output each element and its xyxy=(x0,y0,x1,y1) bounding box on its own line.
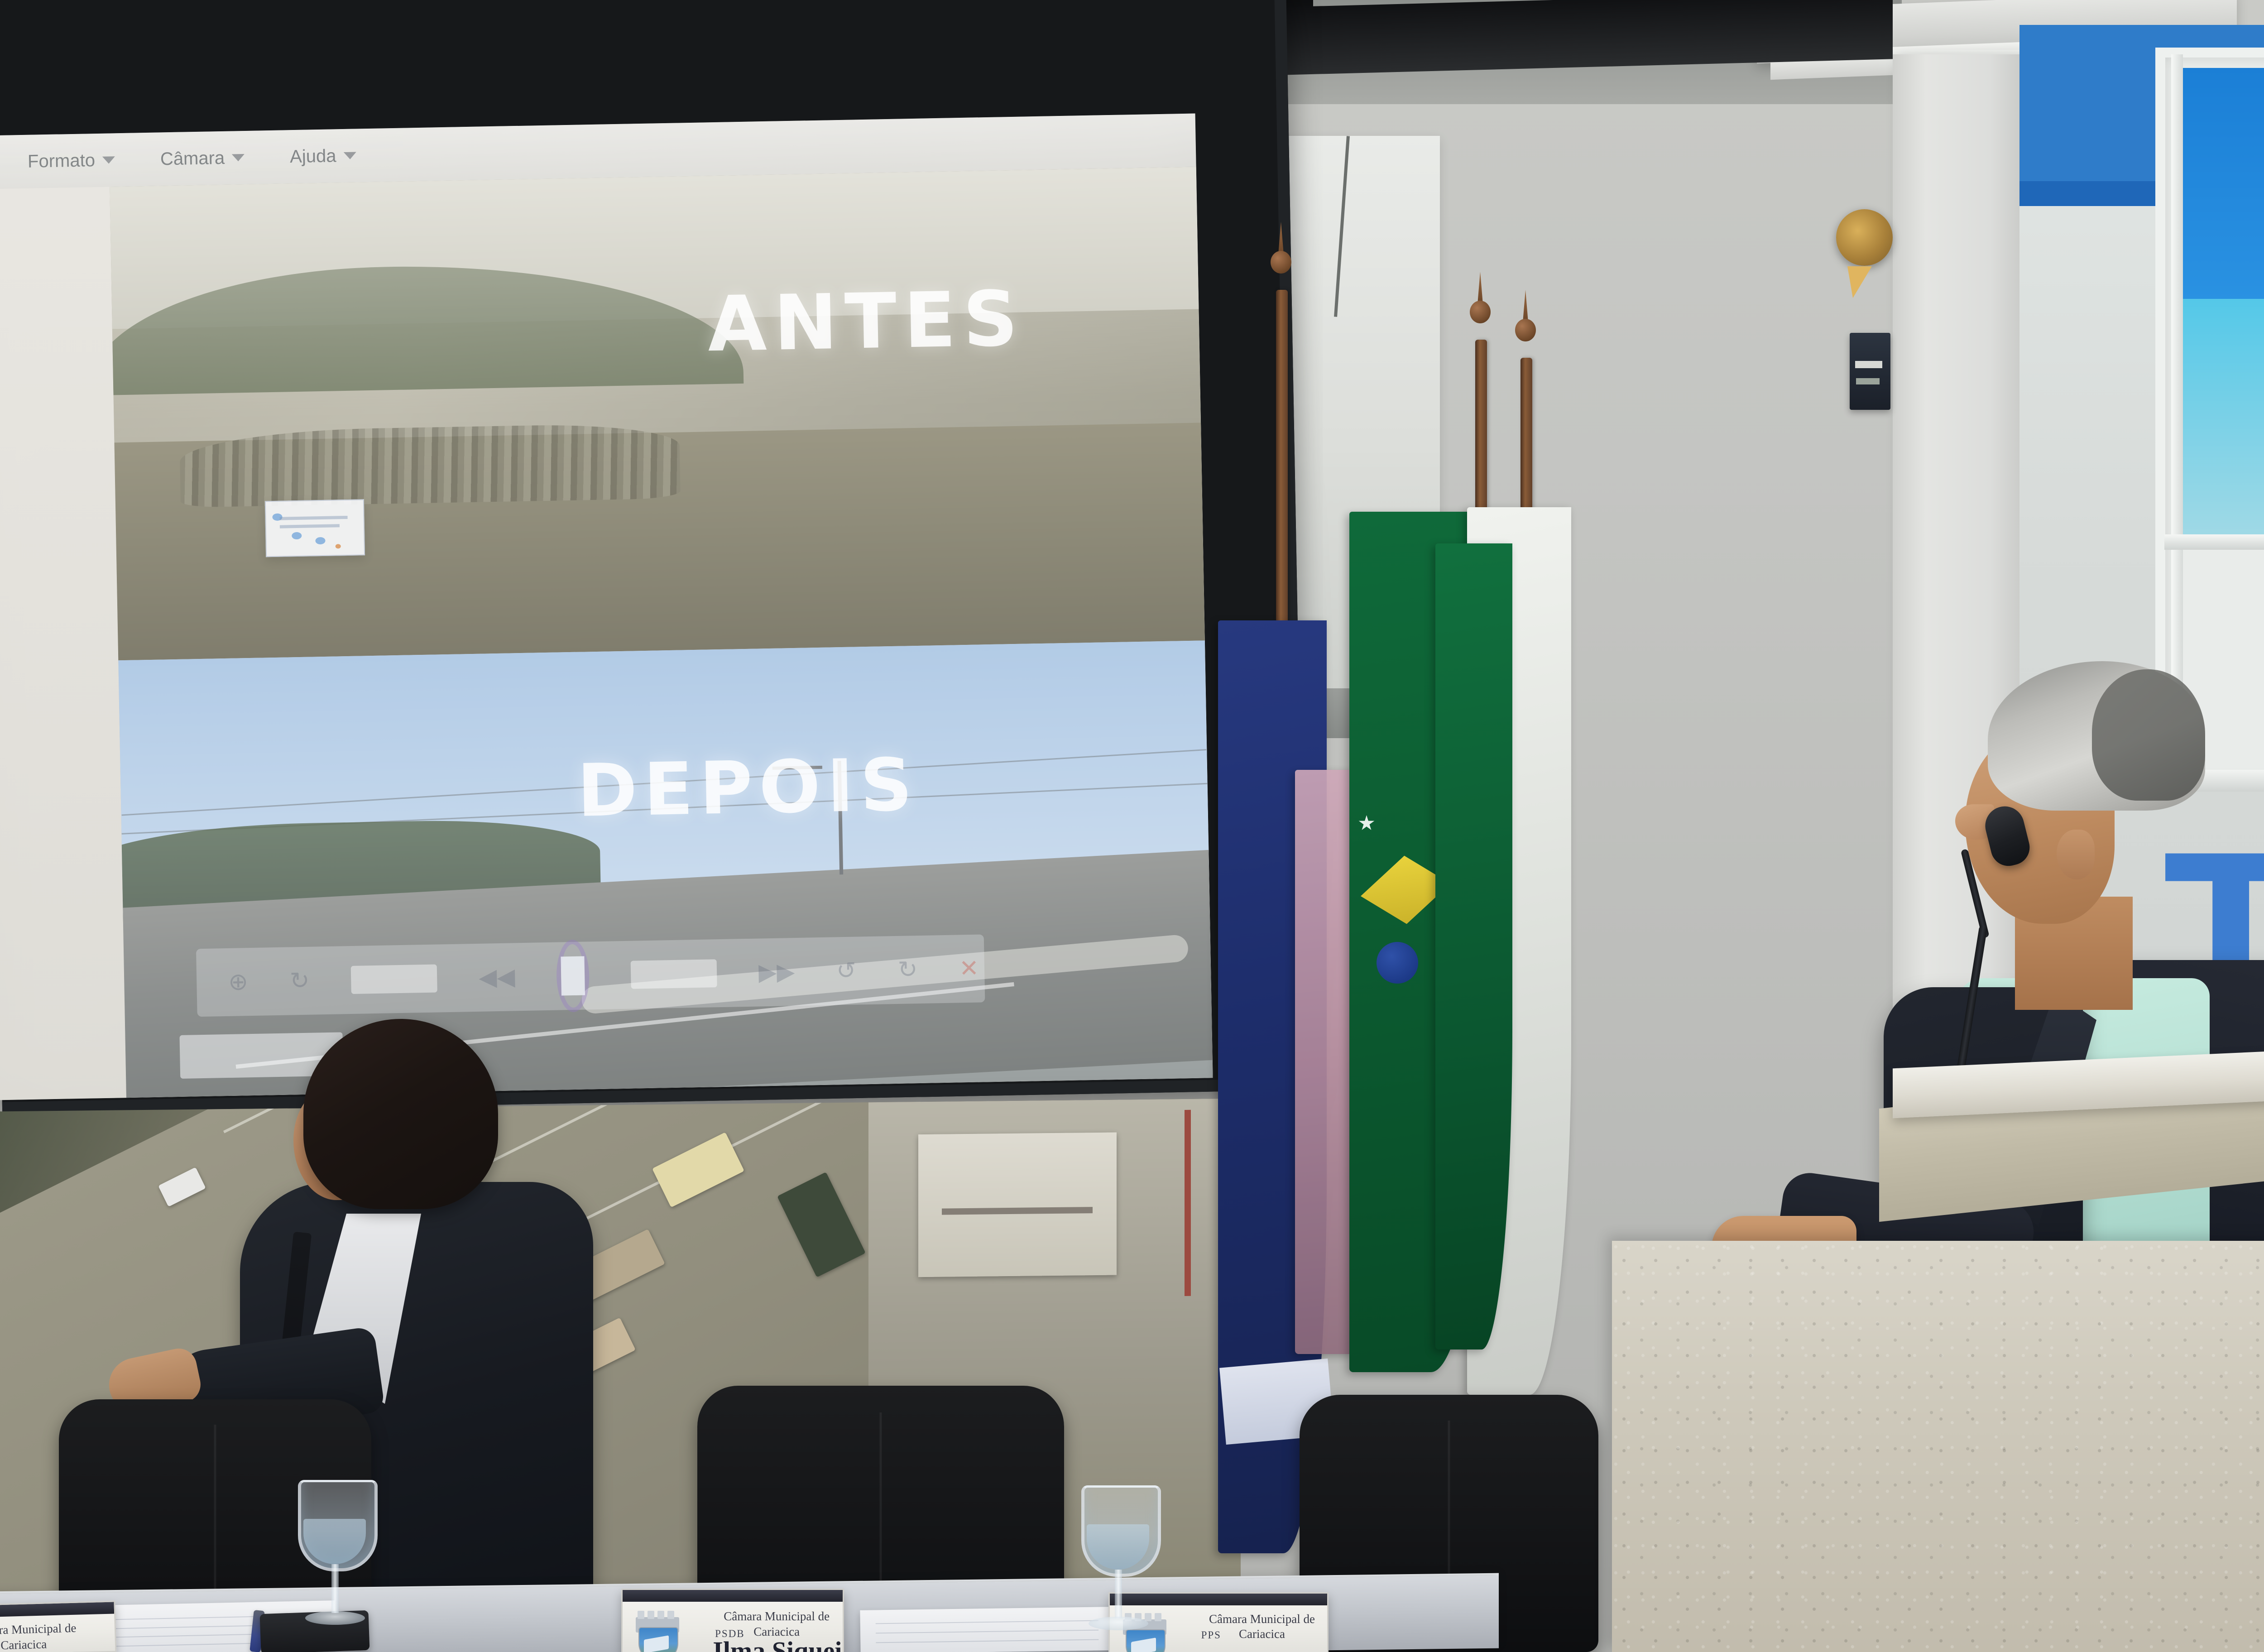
chevron-down-icon xyxy=(102,156,115,164)
projected-slide-canvas[interactable]: ANTES DEPOIS xyxy=(110,167,1213,1098)
nameplate-org-line2: Cariacica xyxy=(0,1635,107,1652)
nameplate-org-line1: Câmara Municipal de xyxy=(1201,1612,1323,1627)
menu-item-camara[interactable]: Câmara xyxy=(160,148,245,169)
flagpole-finial xyxy=(1467,272,1493,344)
slide-label-depois: DEPOIS xyxy=(576,742,919,833)
zoom-in-icon[interactable]: ⊕ xyxy=(228,968,249,996)
speaker-ear xyxy=(2057,830,2095,879)
undo-icon[interactable]: ↺ xyxy=(836,957,857,985)
wall-lamp-icon xyxy=(1836,209,1893,266)
wall-lamp-reflector xyxy=(1847,266,1872,298)
granite-podium xyxy=(1612,1241,2264,1652)
nameplate-party: PPS xyxy=(1201,1629,1221,1641)
redo-icon[interactable]: ↻ xyxy=(897,956,918,984)
toolbar-field-right[interactable] xyxy=(631,959,717,989)
window-rail xyxy=(2164,534,2264,550)
page-badge-icon[interactable] xyxy=(556,939,590,1012)
cariacica-coat-of-arms-icon xyxy=(636,1612,679,1652)
projected-app-sidebar[interactable] xyxy=(0,187,126,1100)
chevron-down-icon xyxy=(232,154,245,162)
mural-billboard xyxy=(918,1133,1117,1277)
menu-item-formato[interactable]: Formato xyxy=(28,150,115,172)
toolbar-field-left[interactable] xyxy=(351,965,437,994)
close-icon[interactable]: ✕ xyxy=(959,955,979,983)
nameplate: Câmara Municipal de Cariacica xyxy=(0,1600,116,1652)
next-page-icon[interactable]: ▶▶ xyxy=(758,958,795,986)
previous-page-icon[interactable]: ◀◀ xyxy=(479,963,515,991)
brazil-flag-second xyxy=(1435,543,1512,1349)
window-blind-lower xyxy=(2176,299,2264,534)
speaker-hair-back xyxy=(2092,669,2205,801)
slide-popup-dialog[interactable] xyxy=(265,499,365,557)
rotate-icon[interactable]: ↻ xyxy=(289,967,310,995)
council-chamber-scene: TR Formato Câmara Ajuda xyxy=(0,0,2264,1652)
flagpole-finial xyxy=(1512,290,1539,362)
before-rubble xyxy=(179,423,681,508)
flagpole-finial xyxy=(1268,222,1294,294)
wall-mounted-device[interactable] xyxy=(1850,333,1890,410)
menu-item-ajuda[interactable]: Ajuda xyxy=(290,145,356,167)
slide-before-photo: ANTES xyxy=(110,167,1205,661)
nameplate-name: Ilma Siqueira xyxy=(713,1636,844,1652)
window-blind-upper xyxy=(2176,68,2264,303)
mural-pole xyxy=(1185,1110,1191,1296)
chevron-down-icon xyxy=(343,152,356,159)
water-glass[interactable] xyxy=(290,1480,380,1629)
nameplate-org-line1: Câmara Municipal de xyxy=(715,1609,838,1624)
projection-screen[interactable]: Formato Câmara Ajuda ANTES xyxy=(0,114,1213,1100)
water-glass[interactable] xyxy=(1073,1485,1164,1635)
slide-label-antes: ANTES xyxy=(707,274,1026,369)
councilwoman-hair xyxy=(303,1019,498,1209)
nameplate-ilma-siqueira: Câmara Municipal de Cariacica PSDB Ilma … xyxy=(621,1589,844,1652)
viewer-toolbar[interactable]: ⊕ ↻ ◀◀ ▶▶ ↺ ↻ ✕ xyxy=(196,934,985,1017)
